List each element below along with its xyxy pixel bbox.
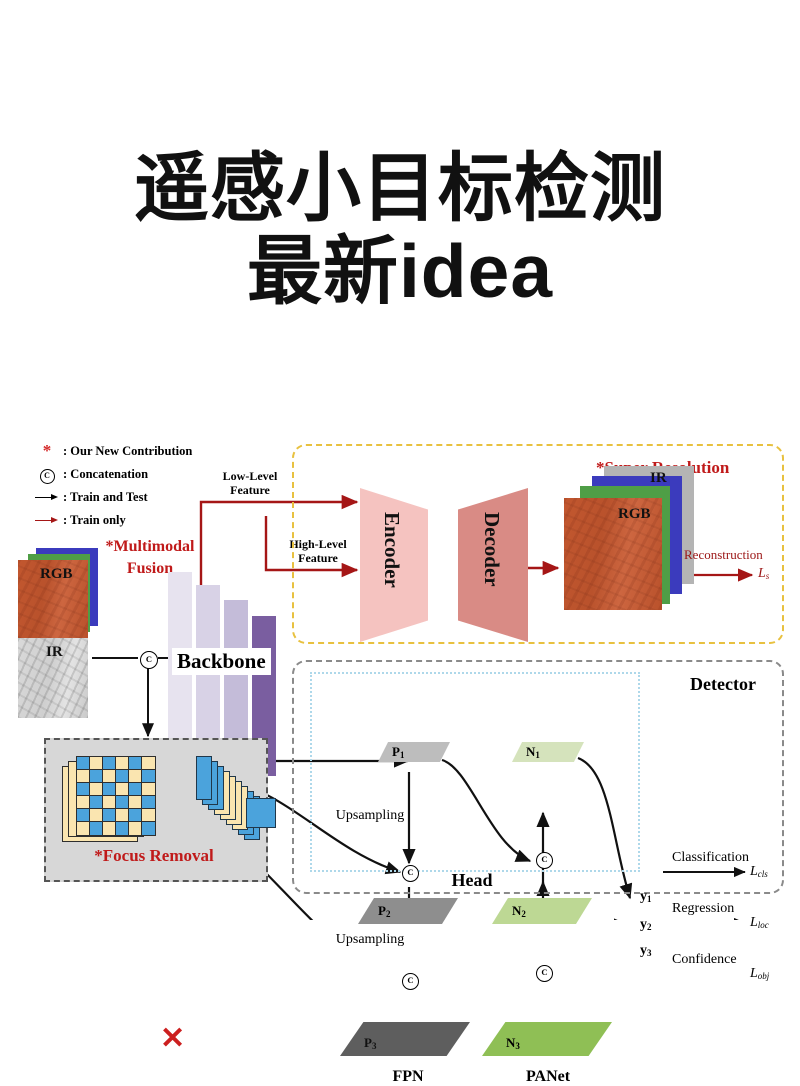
panet-label-n3: N3 [506,1035,520,1051]
task-label-regression: Regression [672,901,734,917]
fpn-label: FPN [392,1068,423,1086]
red-arrow-icon [34,513,60,529]
task-label-classification: Classification [672,850,749,866]
loss-cls: Lcls [750,864,768,880]
head-box [310,672,640,872]
title-line-1: 遥感小目标检测 [0,150,800,227]
panet-label: PANet [526,1068,570,1086]
focus-removal-slices [196,756,272,848]
panet-concat-node-1: C [536,852,553,869]
loss-loc: Lloc [750,915,769,931]
low-level-feature-label-2: Feature [230,484,270,498]
fpn-node-p3 [340,1022,470,1056]
task-label-confidence: Confidence [672,952,737,968]
rgb-label: RGB [40,566,73,583]
legend-label: : Train only [63,513,126,528]
panet-node-n1 [512,742,584,762]
backbone-label: Backbone [172,648,271,675]
reconstruction-label: Reconstruction [684,548,763,563]
head-label: Head [451,870,492,891]
legend-label: : Train and Test [63,490,148,505]
title-block: 遥感小目标检测 最新idea [0,150,800,309]
fpn-label-p2: P2 [378,903,390,919]
legend-item: * : Our New Contribution [34,442,192,461]
focus-removal-grid [62,756,172,848]
decoder-label: Decoder [479,512,504,587]
output-y2: y2 [640,917,652,933]
concat-circle-icon: C [34,466,60,484]
grid-cell [141,821,156,836]
fusion-concat-node: C [140,651,158,669]
fpn-label-p1: P1 [392,744,404,760]
fpn-label-p3: P3 [364,1035,376,1051]
title-line-2: 最新idea [0,233,800,310]
legend-item: : Train only [34,511,192,530]
loss-obj: Lobj [750,966,769,982]
upsampling-label-2: Upsampling [336,932,404,948]
architecture-figure: * : Our New Contribution C : Concatenati… [0,420,800,920]
fpn-node-p2 [358,898,458,924]
input-image-stack: RGB IR [10,548,120,708]
black-arrow-icon [34,490,60,506]
legend-item: C : Concatenation [34,465,192,484]
slice-cube [246,798,276,828]
multimodal-fusion-label-1: *Multimodal [106,538,195,556]
panet-node-n3 [482,1022,612,1056]
encoder-label: Encoder [379,512,404,588]
sr-output-stack: IR RGB [556,466,706,626]
focus-removal-label: *Focus Removal [94,846,213,866]
multimodal-fusion-label-2: Fusion [127,560,173,578]
legend: * : Our New Contribution C : Concatenati… [34,442,192,534]
panet-concat-node-2: C [536,965,553,982]
panet-label-n2: N2 [512,903,526,919]
slice-layer [196,756,212,800]
ir-label: IR [46,644,63,661]
output-y1: y1 [640,889,652,905]
asterisk-icon: * [34,444,60,460]
fpn-node-p1 [378,742,450,762]
output-y3: y3 [640,943,652,959]
detector-title: Detector [690,674,756,695]
fpn-concat-node-2: C [402,973,419,990]
sr-rgb-label: RGB [618,506,651,523]
legend-item: : Train and Test [34,488,192,507]
legend-label: : Our New Contribution [63,444,192,459]
sr-loss-label: Ls [758,566,769,582]
red-x-icon: ✕ [160,1024,185,1054]
legend-label: : Concatenation [63,467,148,482]
panet-label-n1: N1 [526,744,540,760]
page-root: 遥感小目标检测 最新idea [0,0,800,1069]
fpn-concat-node-1: C [402,865,419,882]
low-level-feature-label-1: Low-Level [223,470,278,484]
sr-ir-label: IR [650,470,667,487]
grid-front-layer [76,756,154,834]
upsampling-label-1: Upsampling [336,808,404,824]
panet-node-n2 [492,898,592,924]
